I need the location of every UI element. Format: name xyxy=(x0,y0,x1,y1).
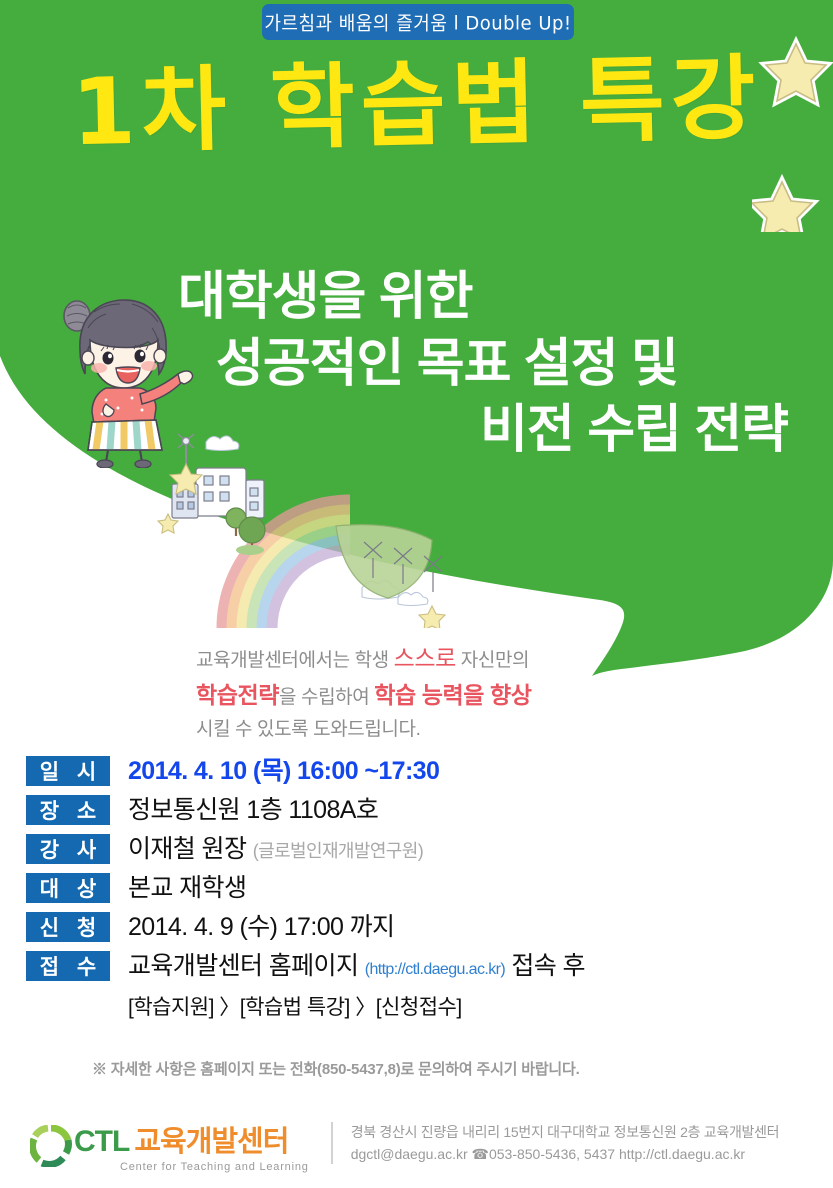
address-line-1: 경북 경산시 진량읍 내리리 15번지 대구대학교 정보통신원 2층 교육개발센… xyxy=(351,1122,780,1144)
ctl-logo-text: CTL 교육개발센터 Center for Teaching and Learn… xyxy=(74,1118,309,1173)
info-value-registration: 교육개발센터 홈페이지 (http://ctl.daegu.ac.kr) 접속 … xyxy=(110,951,816,985)
footer-address: 경북 경산시 진량읍 내리리 15번지 대구대학교 정보통신원 2층 교육개발센… xyxy=(351,1112,780,1165)
info-label-location: 장 소 xyxy=(26,795,110,825)
description-line-2: 학습전략을 수립하여 학습 능력을 향상 xyxy=(196,677,676,714)
footer: CTL 교육개발센터 Center for Teaching and Learn… xyxy=(0,1112,833,1188)
top-banner: 가르침과 배움의 즐거움 l Double Up! xyxy=(262,4,574,40)
description-line-3: 시킬 수 있도록 도와드립니다. xyxy=(196,715,676,746)
ctl-circle-icon xyxy=(30,1125,72,1167)
info-row-application: 신 청 2014. 4. 9 (수) 17:00 까지 xyxy=(26,912,816,945)
info-value-application: 2014. 4. 9 (수) 17:00 까지 xyxy=(110,912,816,943)
footer-divider xyxy=(331,1122,333,1164)
info-label-lecturer: 강 사 xyxy=(26,834,110,864)
info-row-lecturer: 강 사 이재철 원장 (글로벌인재개발연구원) xyxy=(26,834,816,867)
info-row-audience: 대 상 본교 재학생 xyxy=(26,873,816,906)
registration-text: 교육개발센터 홈페이지 xyxy=(128,952,358,980)
info-row-datetime: 일 시 2014. 4. 10 (목) 16:00 ~17:30 xyxy=(26,756,816,789)
ctl-logo-row: CTL 교육개발센터 xyxy=(74,1118,309,1160)
description-highlight-3: 학습 능력을 향상 xyxy=(374,682,531,708)
ctl-logo: CTL 교육개발센터 Center for Teaching and Learn… xyxy=(0,1112,309,1173)
info-value-lecturer: 이재철 원장 (글로벌인재개발연구원) xyxy=(110,834,816,867)
registration-path-breadcrumb: [학습지원] 〉[학습법 특강] 〉[신청접수] xyxy=(26,991,816,1021)
ctl-korean-name: 교육개발센터 xyxy=(134,1118,288,1160)
info-label-audience: 대 상 xyxy=(26,873,110,903)
description-part-1: 교육개발센터에서는 학생 xyxy=(196,650,394,671)
ctl-english-name: Center for Teaching and Learning xyxy=(120,1161,309,1173)
lecturer-name: 이재철 원장 xyxy=(128,835,246,863)
info-value-location: 정보통신원 1층 1108A호 xyxy=(110,795,816,826)
banner-text: 가르침과 배움의 즐거움 l Double Up! xyxy=(264,8,571,35)
info-label-datetime: 일 시 xyxy=(26,756,110,786)
subtitle-line-3: 비전 수립 전략 xyxy=(150,397,800,464)
info-label-application: 신 청 xyxy=(26,912,110,942)
info-value-datetime: 2014. 4. 10 (목) 16:00 ~17:30 xyxy=(110,756,816,787)
page-title: 1차 학습법 특강 xyxy=(0,49,833,163)
info-table: 일 시 2014. 4. 10 (목) 16:00 ~17:30 장 소 정보통… xyxy=(26,756,816,1021)
description-paragraph: 교육개발센터에서는 학생 스스로 자신만의 학습전략을 수립하여 학습 능력을 … xyxy=(196,640,676,745)
description-highlight-1: 스스로 xyxy=(394,645,456,671)
registration-tail: 접속 후 xyxy=(505,952,585,980)
ctl-acronym: CTL xyxy=(74,1125,129,1159)
description-part-3: 을 수립하여 xyxy=(279,687,374,708)
info-row-location: 장 소 정보통신원 1층 1108A호 xyxy=(26,795,816,828)
info-value-audience: 본교 재학생 xyxy=(110,873,816,904)
decorative-stars xyxy=(752,32,833,232)
info-label-registration: 접 수 xyxy=(26,951,110,981)
poster-canvas: 가르침과 배움의 즐거움 l Double Up! 1차 학습법 특강 대학생을… xyxy=(0,0,833,1188)
footnote-text: ※ 자세한 사항은 홈페이지 또는 전화(850-5437,8)로 문의하여 주… xyxy=(92,1058,580,1079)
subtitle-line-2: 성공적인 목표 설정 및 xyxy=(150,331,800,398)
subtitle-line-1: 대학생을 위한 xyxy=(150,264,800,331)
address-line-2[interactable]: dgctl@daegu.ac.kr ☎053-850-5436, 5437 ht… xyxy=(351,1144,780,1166)
lecturer-affiliation: (글로벌인재개발연구원) xyxy=(253,841,423,861)
description-highlight-2: 학습전략 xyxy=(196,682,279,708)
registration-url-link[interactable]: (http://ctl.daegu.ac.kr) xyxy=(365,961,505,978)
subtitle-block: 대학생을 위한 성공적인 목표 설정 및 비전 수립 전략 xyxy=(150,264,800,464)
info-row-registration: 접 수 교육개발센터 홈페이지 (http://ctl.daegu.ac.kr)… xyxy=(26,951,816,985)
description-line-1: 교육개발센터에서는 학생 스스로 자신만의 xyxy=(196,640,676,677)
description-part-2: 자신만의 xyxy=(456,650,529,671)
